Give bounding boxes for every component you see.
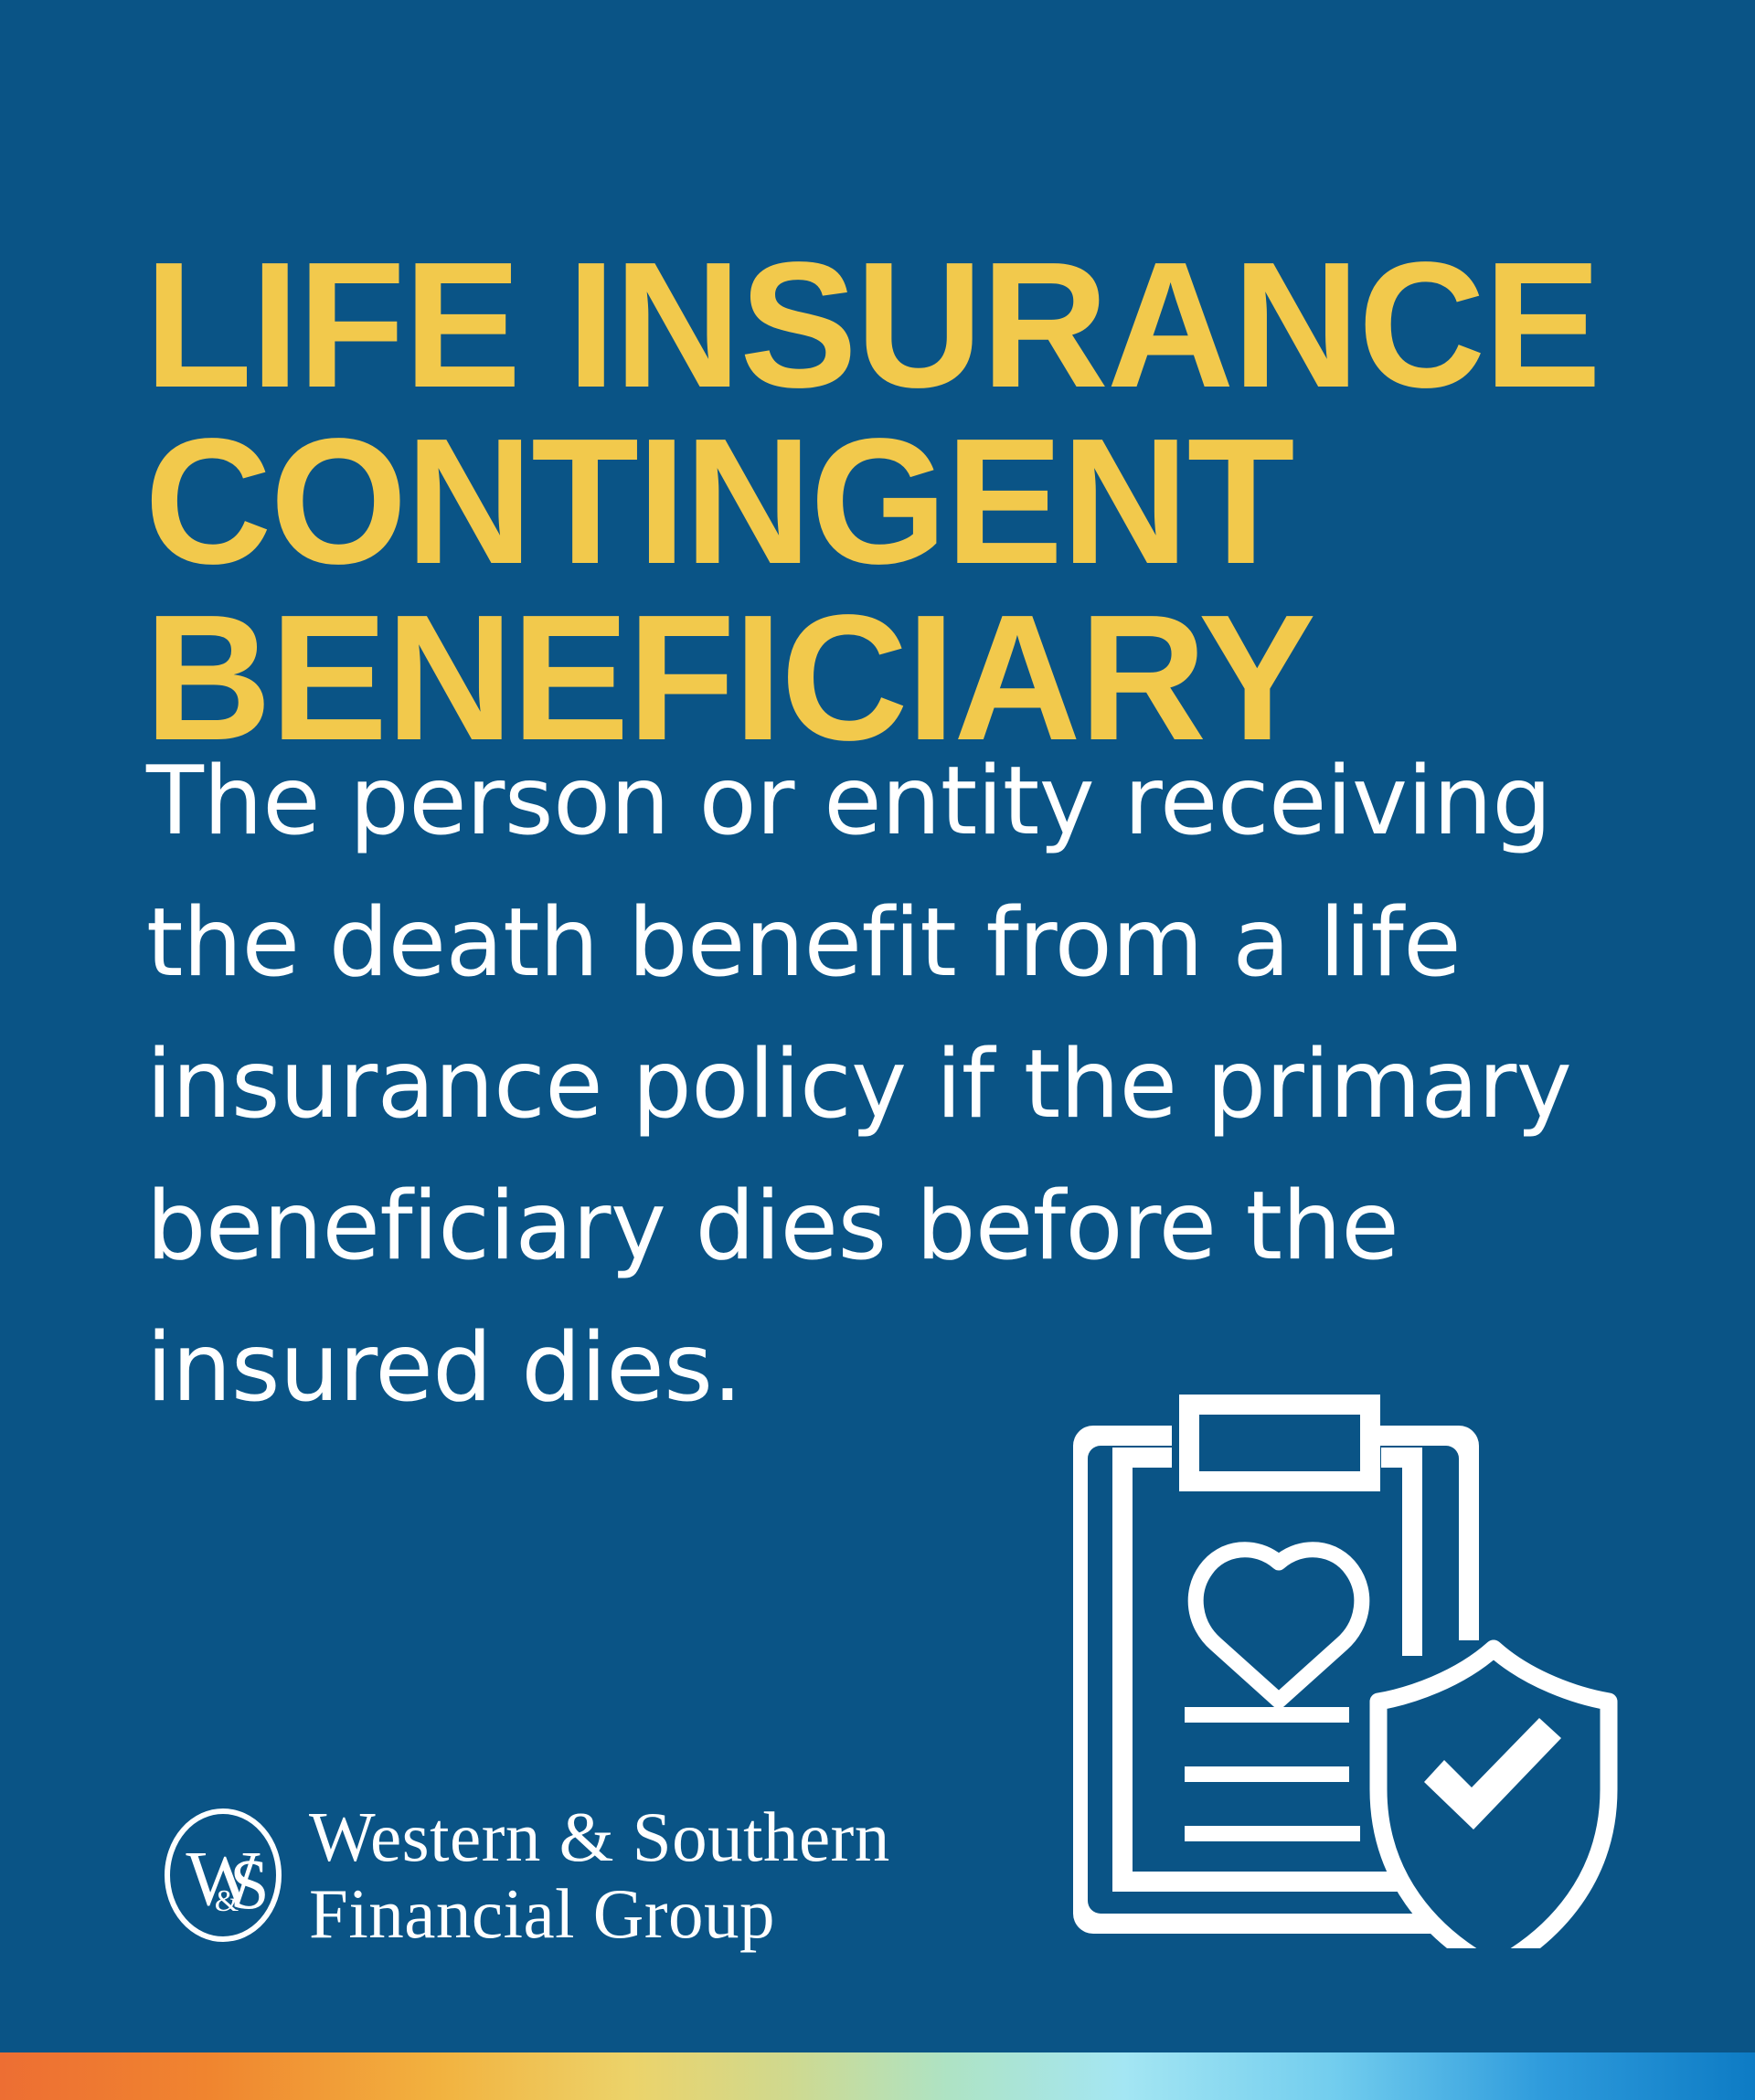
brand-name: Western & Southern Financial Group [309,1798,890,1952]
brand-logo[interactable]: W S & Western & Southern Financial Group [161,1798,890,1952]
document-line-icon [1185,1707,1360,1841]
clipboard-icon [1073,1426,1479,1934]
clipboard-with-shield-illustration [1062,1382,1647,1948]
definition-text: The person or entity receiving the death… [146,731,1499,1439]
heart-icon [1196,1550,1362,1701]
svg-text:&: & [215,1884,239,1918]
brand-name-line-2: Financial Group [309,1875,890,1952]
body-line-1: The person or entity receiving [146,731,1499,873]
ws-monogram-icon: W S & [161,1806,285,1945]
headline-line-2: CONTINGENT [144,413,1603,589]
page-title: LIFE INSURANCE CONTINGENT BENEFICIARY [144,237,1603,766]
bottom-gradient-bar [0,2052,1755,2100]
checkmark-icon [1424,1718,1561,1830]
poster-canvas: LIFE INSURANCE CONTINGENT BENEFICIARY Th… [0,0,1755,2100]
body-line-3: insurance policy if the primary [146,1014,1499,1156]
body-line-4: beneficiary dies before the [146,1156,1499,1298]
brand-name-line-1: Western & Southern [309,1798,890,1875]
clipboard-clip-icon [1179,1395,1380,1491]
headline-line-1: LIFE INSURANCE [144,237,1603,413]
body-line-2: the death benefit from a life [146,873,1499,1014]
